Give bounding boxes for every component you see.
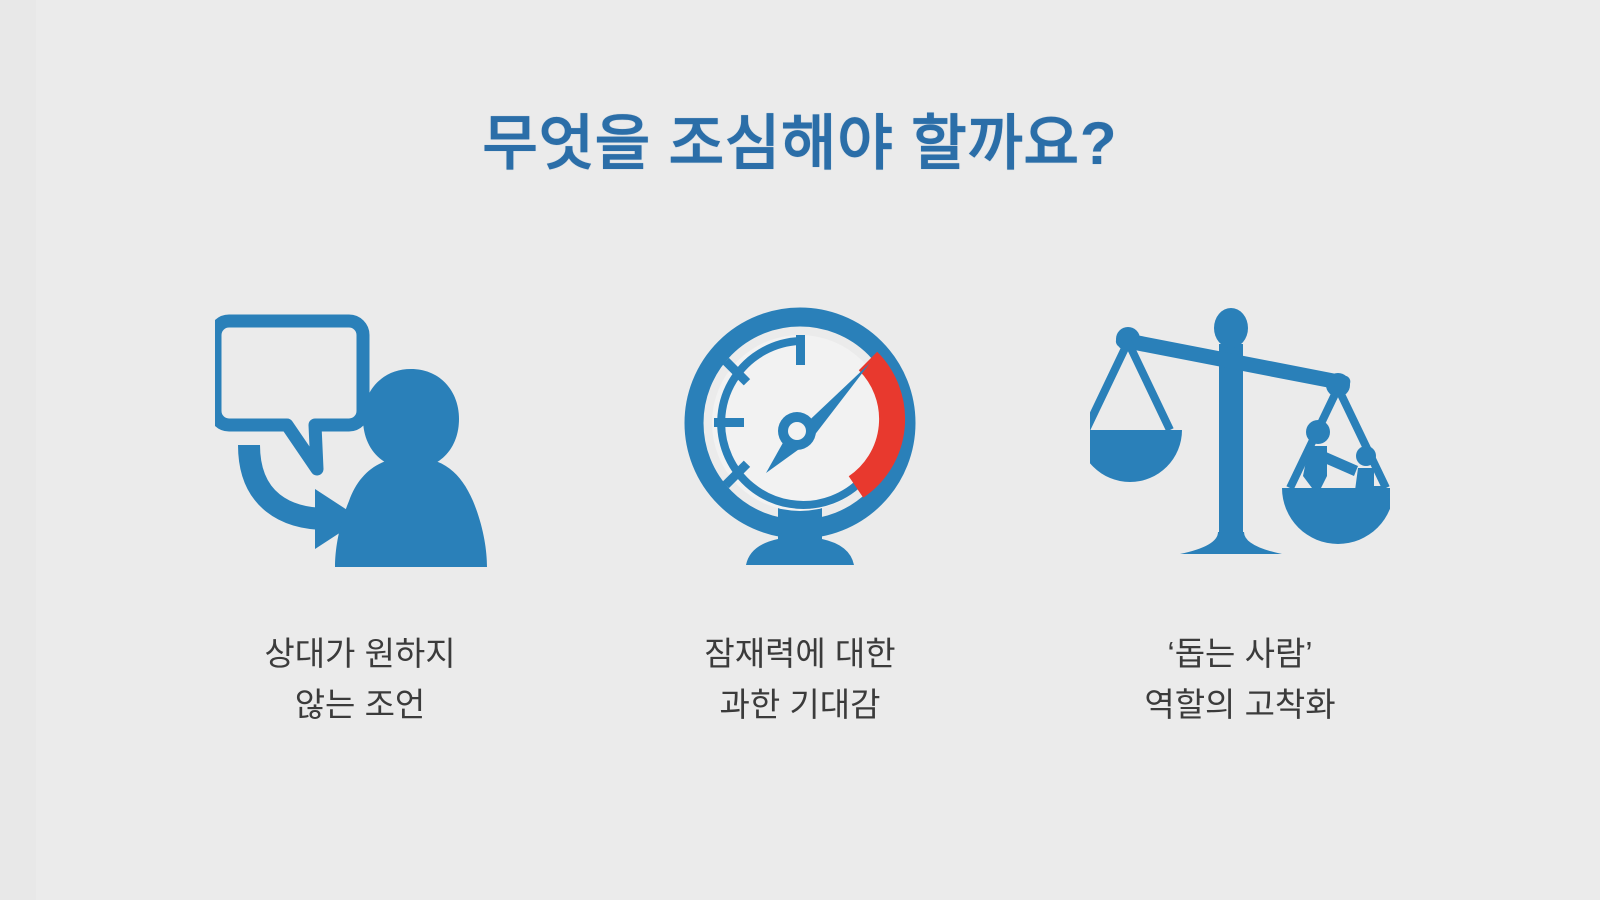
gauge-tick-left xyxy=(714,418,744,427)
person-body xyxy=(335,457,487,567)
caption-line-2: 과한 기대감 xyxy=(704,679,895,730)
caption-line-2: 않는 조언 xyxy=(264,679,455,730)
speech-bubble-shape xyxy=(215,321,363,469)
scales-column xyxy=(1219,344,1243,538)
cards-row: 상대가 원하지 않는 조언 xyxy=(150,290,1450,750)
card-helper-role-fixation: ‘돕는 사람’ 역할의 고착화 xyxy=(1030,290,1450,730)
caption-line-1: ‘돕는 사람’ xyxy=(1144,628,1335,679)
icon-container xyxy=(215,290,505,590)
caption-line-1: 상대가 원하지 xyxy=(264,628,455,679)
pressure-gauge-icon xyxy=(670,305,930,575)
card-caption: 잠재력에 대한 과한 기대감 xyxy=(704,628,895,730)
speech-bubble-arrow-person-icon xyxy=(215,305,505,575)
gauge-hub-center xyxy=(788,422,806,440)
card-excessive-expectation: 잠재력에 대한 과한 기대감 xyxy=(590,290,1010,730)
scales-left-pan xyxy=(1090,430,1182,482)
page-title: 무엇을 조심해야 할까요? xyxy=(0,95,1600,182)
person-head xyxy=(363,369,459,469)
icon-container xyxy=(1090,290,1390,590)
kneeling-figure-head xyxy=(1356,446,1376,466)
caption-line-2: 역할의 고착화 xyxy=(1144,679,1335,730)
helper-figure-head xyxy=(1306,420,1330,444)
scales-left-strings xyxy=(1090,342,1170,430)
card-caption: 상대가 원하지 않는 조언 xyxy=(264,628,455,730)
caption-line-1: 잠재력에 대한 xyxy=(704,628,895,679)
gauge-tick-top xyxy=(796,335,805,365)
scales-finial xyxy=(1214,308,1248,348)
card-caption: ‘돕는 사람’ 역할의 고착화 xyxy=(1144,628,1335,730)
card-unwanted-advice: 상대가 원하지 않는 조언 xyxy=(150,290,570,730)
icon-container xyxy=(670,290,930,590)
slide-canvas: 무엇을 조심해야 할까요? 상대가 원하지 않는 조언 xyxy=(0,0,1600,900)
unbalanced-scales-helping-icon xyxy=(1090,300,1390,580)
helper-figure-arm xyxy=(1322,452,1358,476)
